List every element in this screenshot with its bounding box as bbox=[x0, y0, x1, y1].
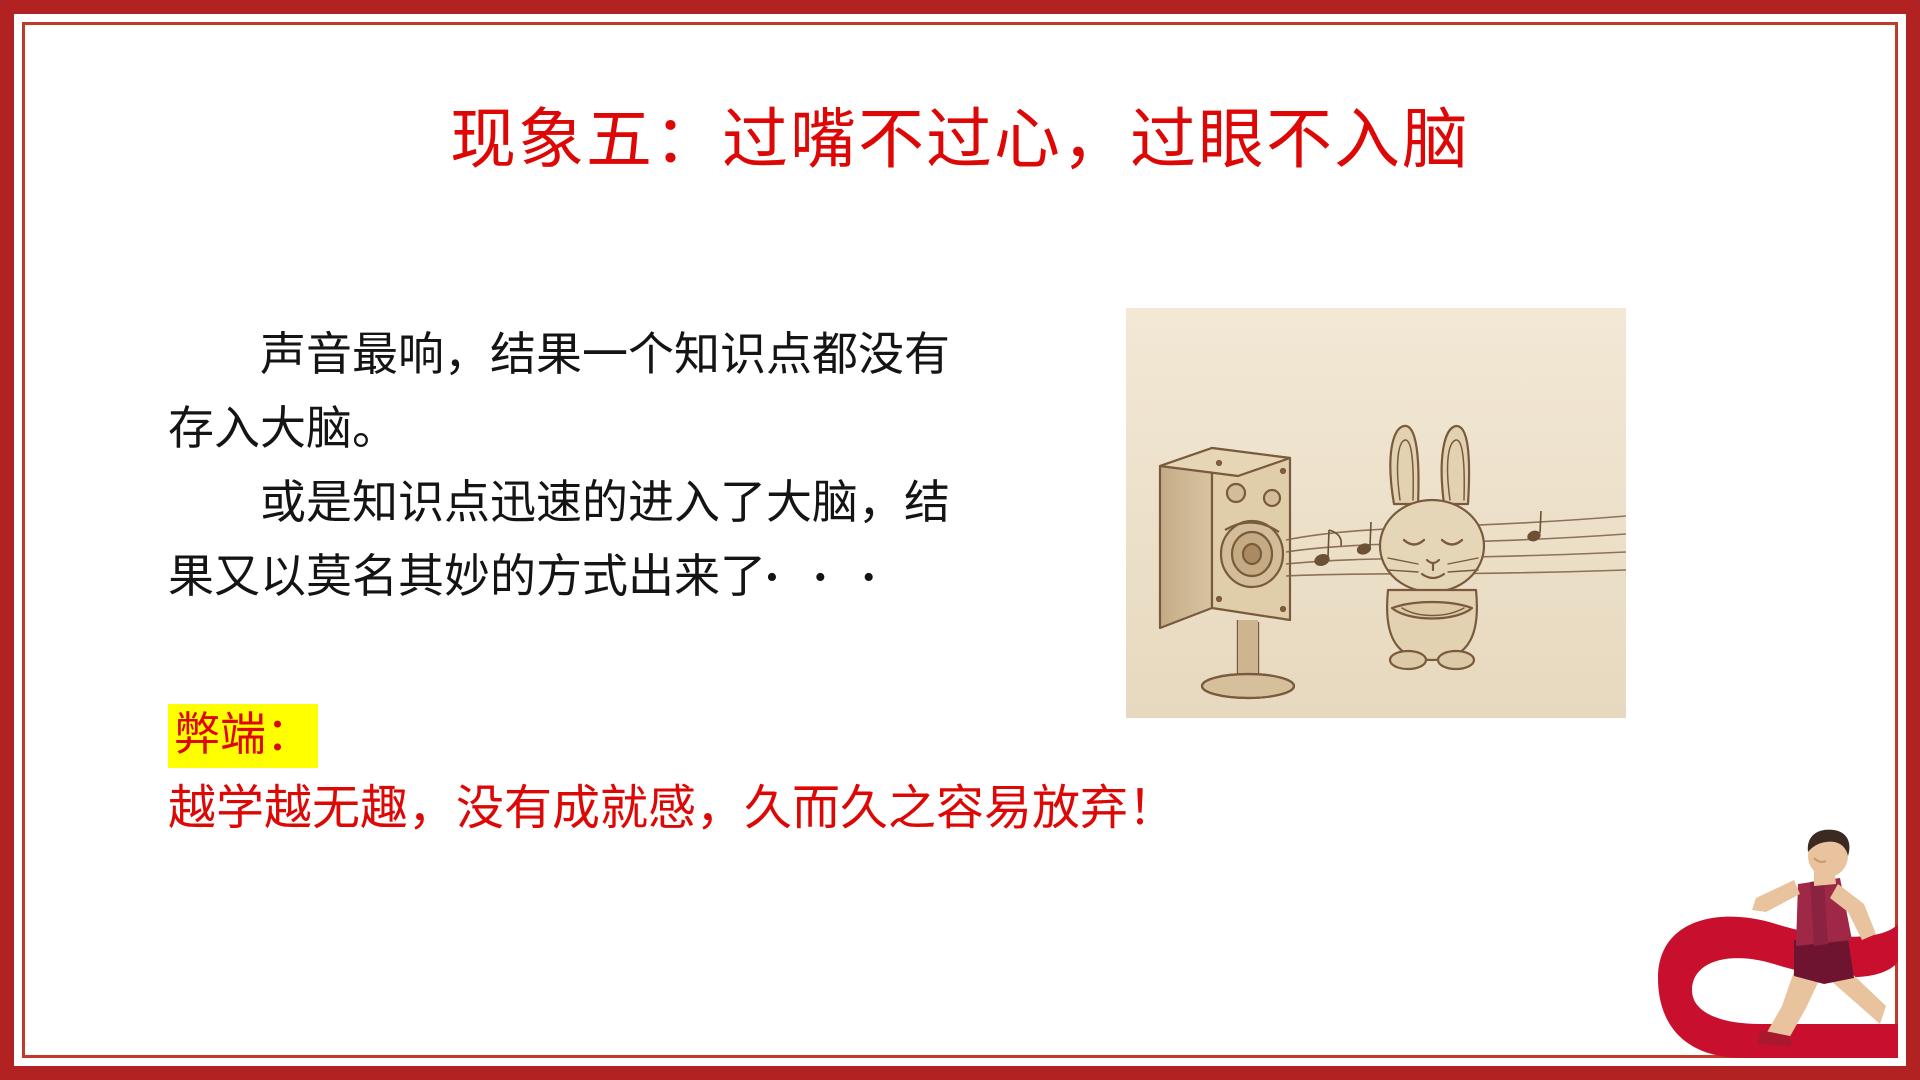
conclusion-text: 越学越无趣，没有成就感，久而久之容易放弃！ bbox=[168, 778, 1176, 840]
drawback-label: 弊端： bbox=[168, 704, 318, 768]
body-paragraph-1: 声音最响，结果一个知识点都没有存入大脑。 bbox=[168, 318, 988, 466]
slide: 现象五：过嘴不过心，过眼不入脑 声音最响，结果一个知识点都没有存入大脑。 或是知… bbox=[0, 0, 1920, 1080]
ribbon-shape bbox=[1658, 917, 1898, 1058]
running-man-ribbon bbox=[1648, 828, 1898, 1058]
drawback-label-wrap: 弊端： bbox=[168, 704, 318, 768]
runner-figure bbox=[1752, 830, 1886, 1046]
speaker-and-rabbit-sketch bbox=[1126, 308, 1626, 718]
page-title: 现象五：过嘴不过心，过眼不入脑 bbox=[0, 108, 1920, 174]
body-paragraph-2: 或是知识点迅速的进入了大脑，结果又以莫名其妙的方式出来了• • • bbox=[168, 466, 988, 615]
trailing-dots: • • • bbox=[766, 559, 889, 596]
body-text-column: 声音最响，结果一个知识点都没有存入大脑。 或是知识点迅速的进入了大脑，结果又以莫… bbox=[168, 318, 988, 615]
